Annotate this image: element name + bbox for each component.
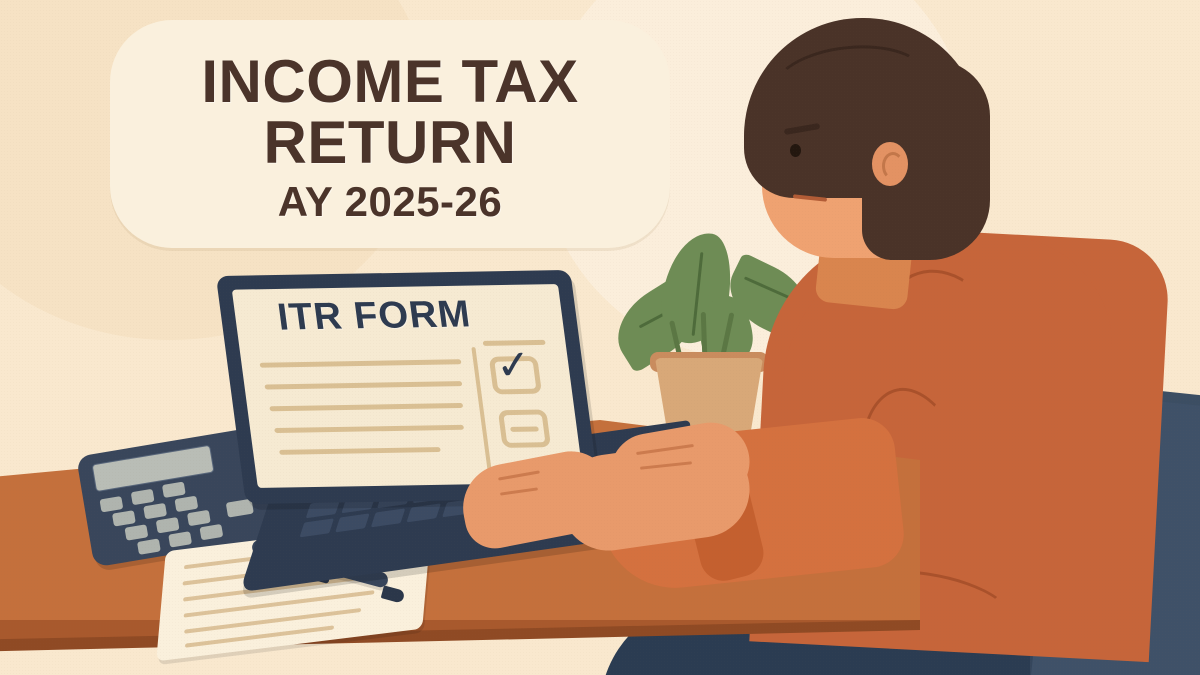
illustration-canvas: ITR FORM ✓ INCOME TAX RETURN AY 2025-26	[0, 0, 1200, 675]
headline-line-3: AY 2025-26	[110, 178, 670, 226]
headline-line-2: RETURN	[110, 112, 670, 174]
headline-line-1: INCOME TAX	[110, 52, 670, 112]
headline-card: INCOME TAX RETURN AY 2025-26	[110, 20, 670, 248]
